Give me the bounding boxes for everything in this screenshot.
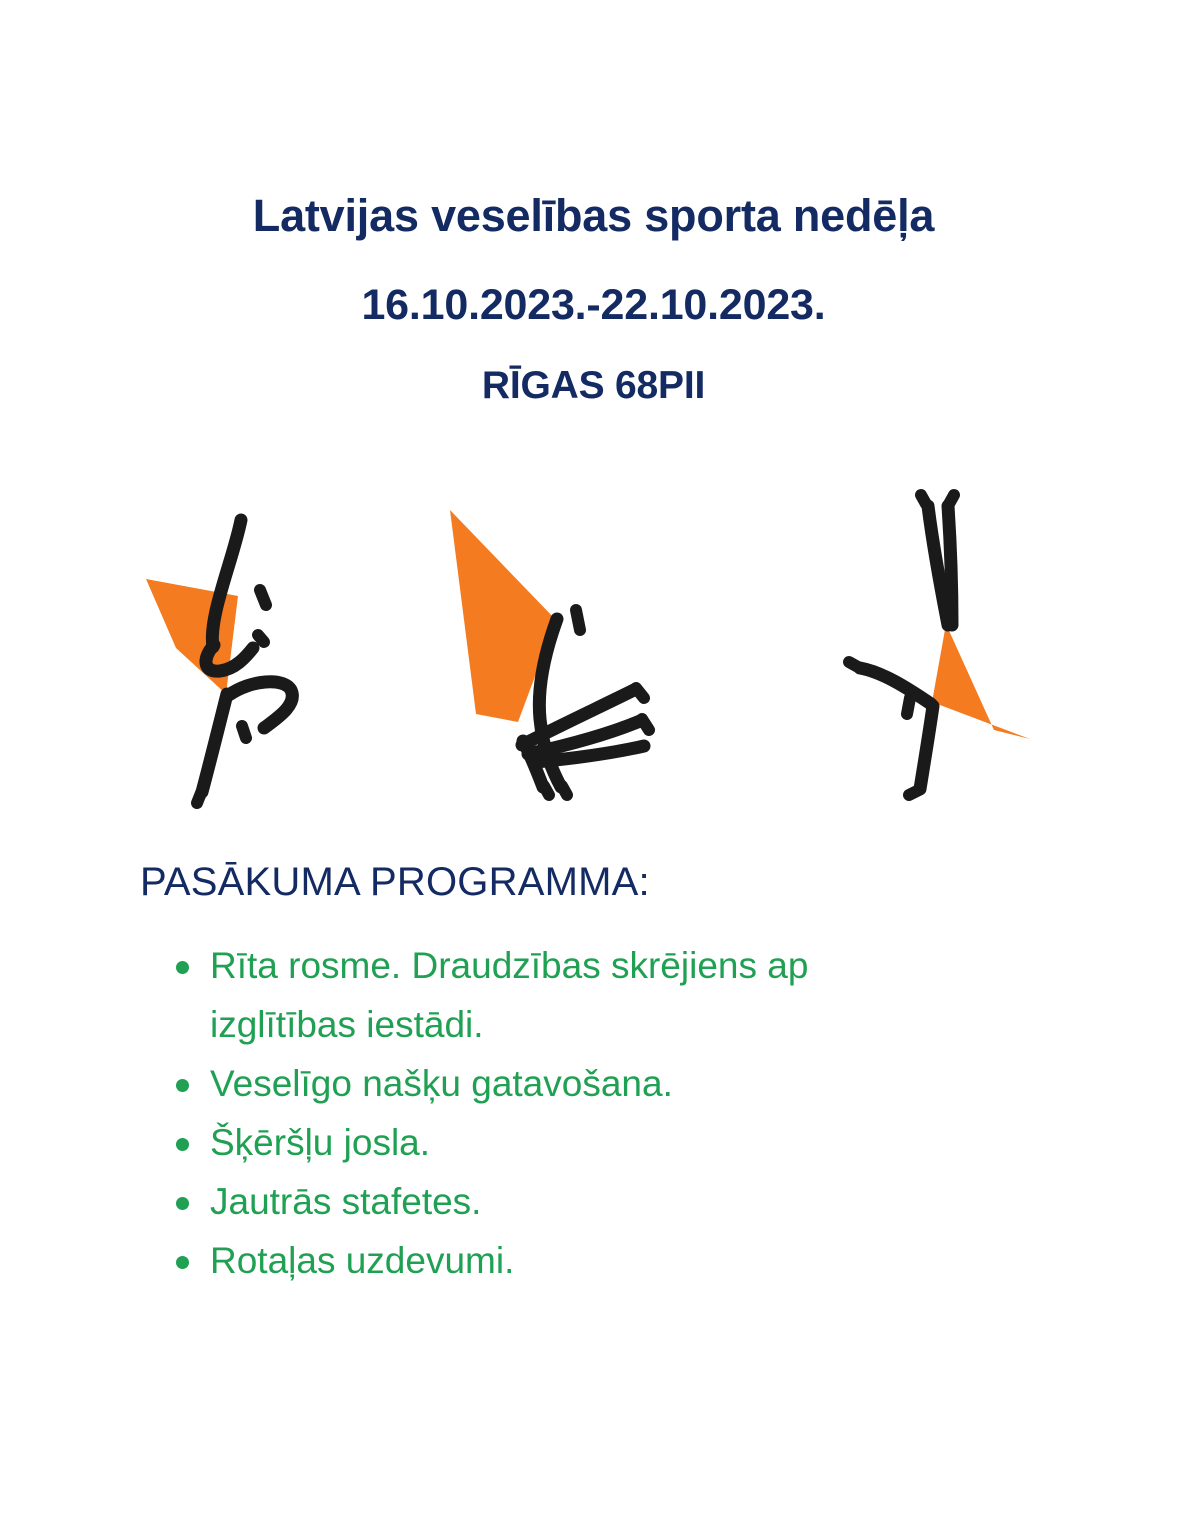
runner-figure-icon [98, 462, 398, 822]
list-item-label: Šķēršļu josla. [210, 1122, 430, 1163]
list-item-label: Veselīgo našķu gatavošana. [210, 1063, 673, 1104]
jumping-figure-icon [798, 462, 1098, 822]
foot-mark-back [242, 726, 246, 738]
foot-mark-front [197, 793, 201, 803]
list-item-label: Rīta rosme. Draudzības skrējiens ap izgl… [210, 945, 808, 1045]
hand-mark [258, 635, 264, 642]
foot-mark-left [921, 495, 926, 504]
right-leg-stroke [948, 506, 952, 625]
head-mark [907, 698, 910, 714]
foot-mark-bottom [909, 790, 919, 795]
list-item-label: Rotaļas uzdevumi. [210, 1240, 514, 1281]
programme-heading: PASĀKUMA PROGRAMMA: [140, 856, 1100, 908]
organisation-name: RĪGAS 68PII [0, 360, 1187, 412]
bullet-icon [176, 961, 189, 974]
hand-mark [849, 662, 858, 667]
foot-mark-lower [642, 719, 649, 730]
head-mark [576, 610, 580, 630]
foot-mark-right [949, 495, 954, 504]
programme-list: Rīta rosme. Draudzības skrējiens ap izgl… [140, 936, 1100, 1290]
list-item: Jautrās stafetes. [174, 1172, 950, 1231]
list-item: Veselīgo našķu gatavošana. [174, 1054, 950, 1113]
stretching-figure-center [428, 462, 758, 822]
torso-triangle [932, 624, 1030, 739]
lower-arm-stroke [920, 706, 933, 789]
bullet-icon [176, 1079, 189, 1092]
page-title: Latvijas veselības sporta nedēļa [0, 186, 1187, 246]
list-item: Rīta rosme. Draudzības skrējiens ap izgl… [174, 936, 950, 1054]
bullet-icon [176, 1138, 189, 1151]
bullet-icon [176, 1256, 189, 1269]
jumping-figure-right [798, 462, 1098, 822]
runner-figure-left [98, 462, 398, 822]
foot-mark-rear [544, 786, 549, 795]
back-leg-stroke [229, 682, 292, 728]
figure-illustrations [98, 462, 1098, 822]
list-item: Rotaļas uzdevumi. [174, 1231, 950, 1290]
stretching-figure-icon [428, 462, 758, 822]
poster-page: Latvijas veselības sporta nedēļa 16.10.2… [0, 0, 1187, 1536]
poster-header: Latvijas veselības sporta nedēļa 16.10.2… [0, 186, 1187, 412]
front-leg-stroke [202, 694, 227, 792]
programme-section: PASĀKUMA PROGRAMMA: Rīta rosme. Draudzīb… [140, 856, 1100, 1290]
foot-mark-support [562, 786, 567, 795]
list-item: Šķēršļu josla. [174, 1113, 950, 1172]
foot-mark-upper [636, 688, 644, 698]
upper-arm-stroke [860, 668, 931, 704]
event-dates: 16.10.2023.-22.10.2023. [0, 276, 1187, 334]
bullet-icon [176, 1197, 189, 1210]
head-mark [260, 590, 266, 605]
list-item-label: Jautrās stafetes. [210, 1181, 481, 1222]
